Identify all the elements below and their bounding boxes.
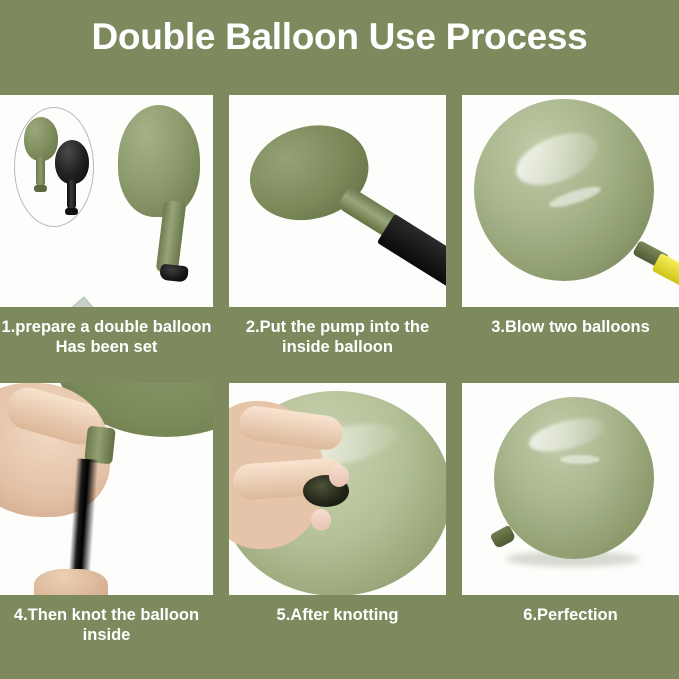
double-balloon-assembled bbox=[118, 105, 208, 301]
fingernail-upper bbox=[329, 465, 349, 487]
step-5: 5.After knotting bbox=[229, 383, 446, 625]
step-5-photo bbox=[229, 383, 446, 595]
black-pump-nozzle bbox=[377, 214, 446, 291]
step-6-caption: 6.Perfection bbox=[462, 605, 679, 625]
step-3-photo bbox=[462, 95, 679, 307]
step-4: 4.Then knot the balloon inside bbox=[0, 383, 213, 645]
balloon-neck bbox=[67, 180, 76, 210]
second-hand bbox=[34, 569, 108, 595]
balloon-bulb bbox=[118, 105, 200, 217]
step-6-photo bbox=[462, 383, 679, 595]
step-4-caption: 4.Then knot the balloon inside bbox=[0, 605, 213, 645]
step-3-caption: 3.Blow two balloons bbox=[462, 317, 679, 337]
balloon-lip bbox=[34, 185, 47, 192]
step-4-photo bbox=[0, 383, 213, 595]
balloon-lip bbox=[65, 208, 78, 215]
step-1-photo bbox=[0, 95, 213, 307]
page-title: Double Balloon Use Process bbox=[0, 16, 679, 58]
step-3: 3.Blow two balloons bbox=[462, 95, 679, 337]
step-1: 1.prepare a double balloon Has been set bbox=[0, 95, 213, 357]
balloon-neck bbox=[36, 157, 45, 187]
inflated-green-balloon bbox=[474, 99, 654, 281]
step-6: 6.Perfection bbox=[462, 383, 679, 625]
step-2: 2.Put the pump into the inside balloon bbox=[229, 95, 446, 357]
balloon-lip-black bbox=[159, 264, 189, 283]
step-2-caption: 2.Put the pump into the inside balloon bbox=[229, 317, 446, 357]
step-1-caption: 1.prepare a double balloon Has been set bbox=[0, 317, 213, 357]
infographic-page: Double Balloon Use Process bbox=[0, 0, 679, 679]
step-5-caption: 5.After knotting bbox=[229, 605, 446, 625]
balloon-bulb bbox=[24, 117, 58, 161]
balloon-highlight-secondary bbox=[560, 455, 600, 464]
balloon-bulb bbox=[55, 140, 89, 184]
step-2-photo bbox=[229, 95, 446, 307]
fingernail-lower bbox=[311, 509, 331, 531]
